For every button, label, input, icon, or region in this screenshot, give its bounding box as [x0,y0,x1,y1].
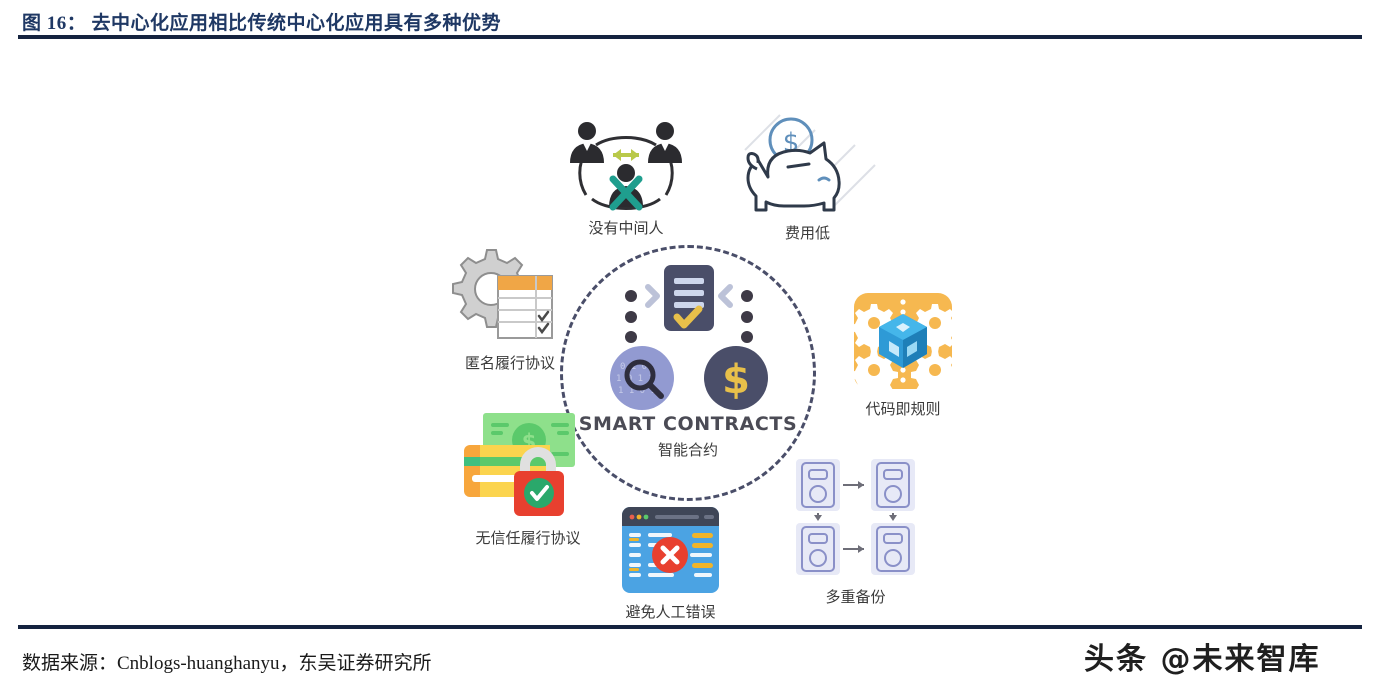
document-check-icon [664,265,714,331]
node-label: 代码即规则 [865,398,940,419]
page-title: 图 16： 去中心化应用相比传统中心化应用具有多种优势 [22,8,501,35]
handshake-people-icon [556,115,696,215]
node-label: 多重备份 [825,586,885,607]
diagram-canvas: 0 1 0 1 0 1 1 1 1 0 1 $ SMART CONTRACTS … [0,45,1379,620]
node-label: 没有中间人 [588,217,663,238]
node-code-is-rules[interactable]: 代码即规则 [843,290,963,420]
source-note: 数据来源：Cnblogs-huanghanyu，东吴证券研究所 [22,648,432,675]
node-label: 避免人工错误 [625,601,715,622]
node-label: 费用低 [785,222,830,243]
binary-magnifier-icon: 0 1 0 1 0 1 1 1 1 0 1 [610,346,674,410]
piggy-bank-icon: $ [735,110,880,220]
node-multi-backup[interactable]: 多重备份 [783,453,928,603]
dots-icon [625,290,637,343]
node-label: 匿名履行协议 [465,352,555,373]
node-no-middleman[interactable]: 没有中间人 [556,115,696,240]
checklist-icon [498,276,552,338]
gear-checklist-icon [440,240,580,350]
server-network-icon [783,453,928,578]
footer-divider [18,625,1362,629]
node-avoid-human-error[interactable]: 避免人工错误 [608,505,733,620]
dots-icon [741,290,753,343]
svg-text:$: $ [722,357,750,403]
chevron-right-icon [648,287,657,305]
person-middle-blocked [609,164,643,207]
node-label: 无信任履行协议 [475,527,580,548]
node-anonymous-agreement[interactable]: 匿名履行协议 [440,240,580,375]
header-divider [18,35,1362,39]
node-low-fee[interactable]: $ 费用低 [735,110,880,245]
gears-cube-icon [843,290,963,395]
money-card-lock-icon: $ [448,405,608,520]
exchange-arrow-icon [613,149,639,161]
dollar-coin-icon: $ [704,346,768,410]
chevron-left-icon [721,287,730,305]
browser-error-icon [608,505,733,597]
watermark: 头条 @未来智库 [1084,634,1320,678]
node-trustless-agreement[interactable]: $ [448,405,608,550]
